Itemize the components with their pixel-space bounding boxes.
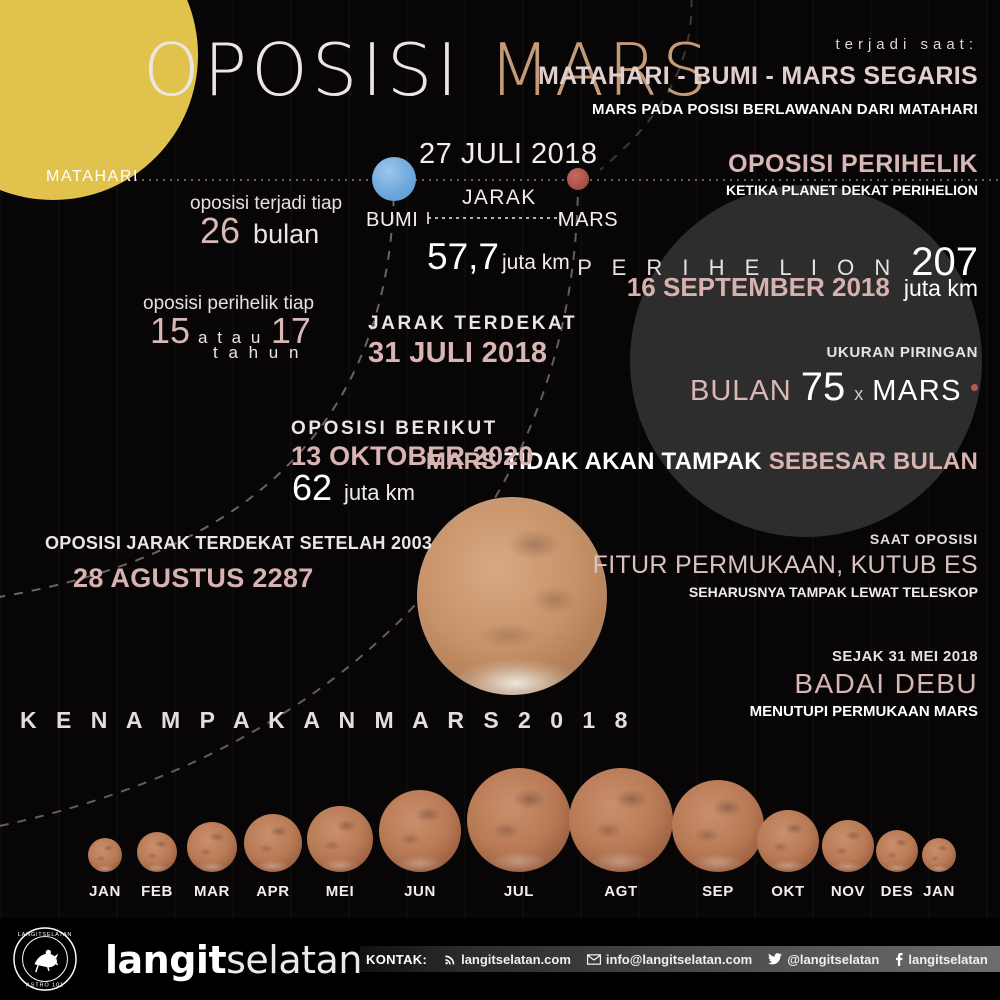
month-item: SEP xyxy=(672,780,764,872)
mars-compare-label: MARS xyxy=(872,375,962,408)
perihelion-distance-unit: juta km xyxy=(904,275,978,302)
month-label: APR xyxy=(244,883,302,900)
month-label: JAN xyxy=(88,883,122,900)
mars-disk-jul-6 xyxy=(467,768,571,872)
mars-label: MARS xyxy=(558,209,618,232)
month-item: MAR xyxy=(187,822,237,872)
monthly-apparent-size-strip: JANFEBMARAPRMEIJUNJULAGTSEPOKTNOVDESJAN xyxy=(0,760,1000,910)
contact-text: langitselatan.com xyxy=(461,952,571,967)
contact-text: info@langitselatan.com xyxy=(606,952,752,967)
earth-disk xyxy=(372,157,416,201)
contact-strip: KONTAK: langitselatan.cominfo@langitsela… xyxy=(360,946,1000,972)
saat-oposisi-label: SAAT OPOSISI xyxy=(870,531,978,547)
menutupi-permukaan-text: MENUTUPI PERMUKAAN MARS xyxy=(750,703,978,720)
langitselatan-logo-icon: LANGITSELATAN ASTRO 101 xyxy=(12,926,78,992)
contact-item-rss[interactable]: langitselatan.com xyxy=(443,952,571,967)
oposisi-tiap-unit: bulan xyxy=(253,219,319,250)
ukuran-piringan-label: UKURAN PIRINGAN xyxy=(827,344,979,361)
brand-wordmark: langitselatan xyxy=(105,938,362,982)
month-item: AGT xyxy=(569,768,673,872)
contact-item-envelope[interactable]: info@langitselatan.com xyxy=(587,952,752,967)
month-item: JAN xyxy=(88,838,122,872)
mars-disk-sep-8 xyxy=(672,780,764,872)
facebook-icon xyxy=(895,953,903,966)
month-item: APR xyxy=(244,814,302,872)
fitur-permukaan-headline: FITUR PERMUKAAN, KUTUB ES xyxy=(593,551,978,580)
jarak-terdekat-date: 31 JULI 2018 xyxy=(368,337,547,370)
month-item: JUN xyxy=(379,790,461,872)
month-label: JAN xyxy=(922,883,956,900)
mars-disk-jan-12 xyxy=(922,838,956,872)
jarak-number: 57,7 xyxy=(427,238,499,275)
badai-debu-headline: BADAI DEBU xyxy=(794,668,978,700)
sun-label: MATAHARI xyxy=(46,168,139,186)
month-label: JUN xyxy=(379,883,461,900)
oposisi-perihelik-subtitle: KETIKA PLANET DEKAT PERIHELION xyxy=(726,182,978,198)
mars-dot xyxy=(567,168,589,190)
mars-disk-feb-1 xyxy=(137,832,177,872)
jarak-unit: juta km xyxy=(502,251,570,275)
moon-vs-mars-row: BULAN 75 x MARS xyxy=(690,367,978,408)
jarak-value-row: 57,7 juta km xyxy=(427,238,570,275)
contact-text: @langitselatan xyxy=(787,952,879,967)
terjadi-saat-kicker: terjadi saat: xyxy=(835,36,978,53)
oposisi-perihelik-title: OPOSISI PERIHELIK xyxy=(728,150,978,179)
rss-icon xyxy=(443,953,456,966)
mars-disk-okt-9 xyxy=(757,810,819,872)
perihelik-tahun-unit: t a h u n xyxy=(213,343,301,363)
mars-photo-disk xyxy=(417,497,607,695)
size-factor-value: 75 xyxy=(801,367,846,407)
month-label: AGT xyxy=(569,883,673,900)
month-item: JAN xyxy=(922,838,956,872)
month-label: NOV xyxy=(822,883,874,900)
opposition-date: 27 JULI 2018 xyxy=(419,138,598,171)
logo-top-text: LANGITSELATAN xyxy=(18,932,72,938)
warning-part-c: SEBESAR BULAN xyxy=(762,448,978,475)
perihelion-date-row: 16 SEPTEMBER 2018 juta km xyxy=(627,272,978,303)
seharusnya-teleskop-text: SEHARUSNYA TAMPAK LEWAT TELESKOP xyxy=(689,584,978,600)
oposisi-tiap-value-row: 26 bulan xyxy=(200,213,319,250)
month-item: FEB xyxy=(137,832,177,872)
month-label: JUL xyxy=(467,883,571,900)
month-item: NOV xyxy=(822,820,874,872)
times-symbol: x xyxy=(854,384,863,405)
perihelik-years-15: 15 xyxy=(150,313,190,349)
moon-label: BULAN xyxy=(690,375,792,408)
oposisi-berikut-unit: juta km xyxy=(344,480,415,506)
title-word-oposisi: OPOSISI xyxy=(143,28,462,112)
terdekat-2003-date: 28 AGUSTUS 2287 xyxy=(73,563,314,594)
envelope-icon xyxy=(587,954,601,965)
month-label: OKT xyxy=(757,883,819,900)
contact-text: langitselatan xyxy=(908,952,987,967)
kenampakan-heading: K E N A M P A K A N M A R S 2 0 1 8 xyxy=(20,707,634,734)
terdekat-2003-label: OPOSISI JARAK TERDEKAT SETELAH 2003 xyxy=(45,533,432,554)
month-label: FEB xyxy=(137,883,177,900)
month-item: OKT xyxy=(757,810,819,872)
brand-langit: langit xyxy=(105,938,226,982)
month-label: MEI xyxy=(307,883,373,900)
contact-item-twitter[interactable]: @langitselatan xyxy=(768,952,879,967)
mars-disk-nov-10 xyxy=(822,820,874,872)
sejak-date-label: SEJAK 31 MEI 2018 xyxy=(832,648,978,665)
footer-bar: LANGITSELATAN ASTRO 101 langitselatan KO… xyxy=(0,918,1000,1000)
contact-item-facebook[interactable]: langitselatan xyxy=(895,952,987,967)
month-item: MEI xyxy=(307,806,373,872)
warning-part-b: TIDAK AKAN TAMPAK xyxy=(504,448,762,475)
mars-disk-jan-0 xyxy=(88,838,122,872)
alignment-subtext: MARS PADA POSISI BERLAWANAN DARI MATAHAR… xyxy=(592,101,978,118)
mars-disk-des-11 xyxy=(876,830,918,872)
jarak-label: JARAK xyxy=(462,186,537,210)
infographic-poster: OPOSISI MARS MATAHARI terjadi saat: MATA… xyxy=(0,0,1000,1000)
brand-selatan: selatan xyxy=(226,938,362,982)
month-label: SEP xyxy=(672,883,764,900)
month-label: MAR xyxy=(187,883,237,900)
mars-disk-mei-4 xyxy=(307,806,373,872)
jarak-terdekat-label: JARAK TERDEKAT xyxy=(368,313,577,335)
oposisi-berikut-number: 62 xyxy=(292,470,332,506)
perihelion-date: 16 SEPTEMBER 2018 xyxy=(627,272,890,303)
alignment-headline: MATAHARI - BUMI - MARS SEGARIS xyxy=(538,62,978,91)
earth-label: BUMI xyxy=(366,209,418,232)
month-item: DES xyxy=(876,830,918,872)
oposisi-berikut-value-row: 62 juta km xyxy=(292,470,415,506)
kontak-label: KONTAK: xyxy=(366,952,427,967)
perihelion-panel-circle xyxy=(630,185,982,537)
month-label: DES xyxy=(876,883,918,900)
mars-disk-mar-2 xyxy=(187,822,237,872)
mars-size-dot-icon xyxy=(971,384,978,391)
mars-disk-jun-5 xyxy=(379,790,461,872)
oposisi-berikut-label: OPOSISI BERIKUT xyxy=(291,418,498,440)
mars-disk-apr-3 xyxy=(244,814,302,872)
mars-disk-agt-7 xyxy=(569,768,673,872)
month-item: JUL xyxy=(467,768,571,872)
twitter-icon xyxy=(768,953,782,965)
logo-bottom-text: ASTRO 101 xyxy=(26,983,64,989)
oposisi-tiap-number: 26 xyxy=(200,213,240,249)
